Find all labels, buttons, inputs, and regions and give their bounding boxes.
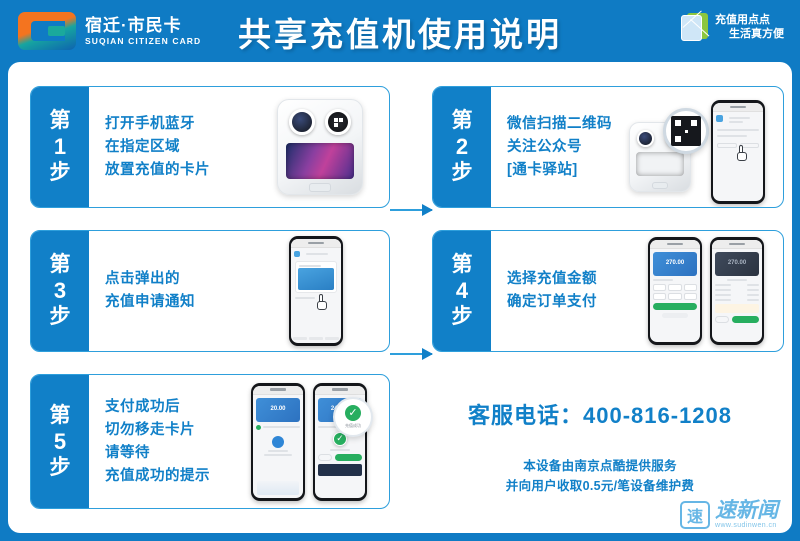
hotline-label: 客服电话： [468,403,583,428]
step-instruction-3: 点击弹出的 充值申请通知 [89,268,195,314]
step-line: 点击弹出的 [105,268,195,291]
step-line: 选择充值金额 [507,268,597,291]
cancel-button[interactable] [662,313,688,318]
recharge-machine-illustration [277,87,363,207]
confirm-pay-button[interactable] [653,303,697,310]
qr-code-zoom-icon [663,108,709,154]
step-instruction-4: 选择充值金额 确定订单支付 [491,268,597,314]
step-prefix: 第 [50,403,71,429]
step-number: 1 [54,134,66,160]
phone-mock-wechat [711,100,765,204]
step-number: 2 [456,134,468,160]
amount-option[interactable] [684,293,697,300]
arrow-step3-to-step4 [390,353,432,355]
step-line: 充值成功的提示 [105,465,210,488]
success-screens-illustration: 20.00 [239,375,379,508]
detail-button[interactable] [318,454,332,461]
page-header: 宿迁·市民卡 SUQIAN CITIZEN CARD 共享充值机使用说明 充值用… [0,0,800,62]
step-line: 请等待 [105,442,210,465]
amount-option[interactable] [668,293,681,300]
watermark-badge-icon: 速 [680,501,710,529]
step-instruction-2: 微信扫描二维码 关注公众号 [通卡驿站] [491,113,612,182]
step-suffix: 步 [50,304,71,330]
amount-option[interactable] [653,284,666,291]
step-number: 4 [456,278,468,304]
partner-slogan-line2: 生活真方便 [715,27,784,41]
envelope-icon [681,12,709,42]
phone-mock-waiting: 20.00 [251,383,305,501]
payment-screens-illustration: 270.00 [641,231,771,351]
loading-indicator [272,436,284,448]
step-suffix: 步 [452,160,473,186]
step-prefix: 第 [50,252,71,278]
balance-card: 270.00 [653,252,697,276]
partner-slogan-line1: 充值用点点 [715,13,784,27]
content-sheet: 第 1 步 打开手机蓝牙 在指定区域 放置充值的卡片 [8,62,792,533]
success-callout-badge: ✓ 充值成功 [333,397,373,437]
amount-value: 270.00 [666,260,684,266]
amount-value: 20.00 [270,406,285,412]
step-prefix: 第 [452,252,473,278]
service-note-line2: 并向用户收取0.5元/笔设备维护费 [408,476,792,496]
order-header-card: 270.00 [715,252,759,276]
step-badge-4: 第 4 步 [433,231,491,351]
step-card-1: 第 1 步 打开手机蓝牙 在指定区域 放置充值的卡片 [30,86,390,208]
tap-cursor-icon [315,294,329,310]
step-prefix: 第 [452,108,473,134]
step-badge-5: 第 5 步 [31,375,89,508]
step-number: 5 [54,429,66,455]
step-instruction-1: 打开手机蓝牙 在指定区域 放置充值的卡片 [89,113,210,182]
step-suffix: 步 [50,455,71,481]
amount-option[interactable] [653,293,666,300]
brand-logo: 宿迁·市民卡 SUQIAN CITIZEN CARD [18,12,201,50]
success-label: 充值成功 [345,423,361,429]
step-card-4: 第 4 步 选择充值金额 确定订单支付 270.00 [432,230,784,352]
step-badge-1: 第 1 步 [31,87,89,207]
step-line: 确定订单支付 [507,291,597,314]
step-card-2: 第 2 步 微信扫描二维码 关注公众号 [通卡驿站] [432,86,784,208]
amount-value: 270.00 [728,260,746,266]
amount-options-grid[interactable] [653,284,697,300]
step-card-5: 第 5 步 支付成功后 切勿移走卡片 请等待 充值成功的提示 20.00 [30,374,390,509]
warning-notice [715,304,759,313]
recharge-device-icon [277,99,363,195]
step-line: 充值申请通知 [105,291,195,314]
watermark-url: www.sudinwen.cn [715,522,778,529]
watermark-logo: 速 速新闻 www.sudinwen.cn [680,500,778,529]
scan-qr-illustration [623,87,773,207]
service-note-line1: 本设备由南京点酷提供服务 [408,456,792,476]
brand-name-cn: 宿迁·市民卡 [85,16,201,35]
step-card-3: 第 3 步 点击弹出的 充值申请通知 [30,230,390,352]
order-detail-rows [715,284,759,301]
step-badge-2: 第 2 步 [433,87,491,207]
hotline-number[interactable]: 400-816-1208 [583,403,732,428]
step-line: 关注公众号 [507,136,612,159]
step-suffix: 步 [452,304,473,330]
step-instruction-5: 支付成功后 切勿移走卡片 请等待 充值成功的提示 [89,396,210,488]
back-button[interactable] [715,316,729,323]
watermark-word: 速新闻 [715,500,778,522]
banner-ad [318,464,362,476]
step-line: 微信扫描二维码 [507,113,612,136]
phone-mock-order-confirm: 270.00 [710,237,764,345]
phone-mock-notification [289,236,343,346]
step-line: [通卡驿站] [507,159,612,182]
step-line: 放置充值的卡片 [105,159,210,182]
hotline: 客服电话：400-816-1208 [408,398,792,430]
bus-illustration [257,481,299,495]
citizen-card-icon [18,12,76,50]
step-line: 切勿移走卡片 [105,419,210,442]
step-line: 在指定区域 [105,136,210,159]
balance-card: 20.00 [256,398,300,422]
partner-logo: 充值用点点 生活真方便 [681,12,784,42]
amount-option[interactable] [668,284,681,291]
notification-tap-illustration [289,231,343,351]
step-line: 打开手机蓝牙 [105,113,210,136]
step-line: 支付成功后 [105,396,210,419]
notification-bubble [295,261,337,293]
step-prefix: 第 [50,108,71,134]
finish-button[interactable] [335,454,362,461]
brand-name-en: SUQIAN CITIZEN CARD [85,35,201,47]
check-icon: ✓ [345,405,361,421]
step-badge-3: 第 3 步 [31,231,89,351]
service-note: 本设备由南京点酷提供服务 并向用户收取0.5元/笔设备维护费 [408,456,792,496]
phone-mock-select-amount: 270.00 [648,237,702,345]
arrow-step1-to-step2 [390,209,432,211]
step-number: 3 [54,278,66,304]
amount-option[interactable] [684,284,697,291]
step-suffix: 步 [50,160,71,186]
pay-button[interactable] [732,316,759,323]
